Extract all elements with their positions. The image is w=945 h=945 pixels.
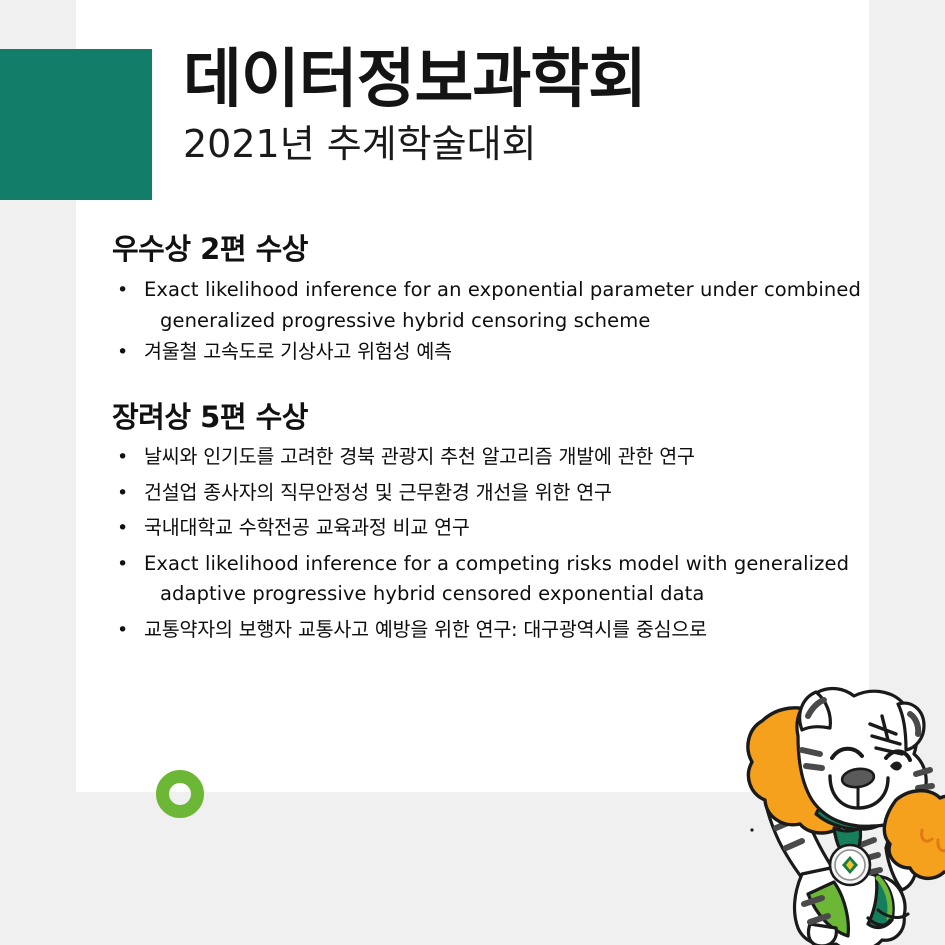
list-item: • 겨울철 고속도로 기상사고 위험성 예측 <box>112 342 872 362</box>
list-item-line1: Exact likelihood inference for an expone… <box>144 280 872 300</box>
award-list: • Exact likelihood inference for an expo… <box>112 280 872 362</box>
slide-header: 데이터정보과학회 2021년 추계학술대회 <box>183 48 843 166</box>
section-heading: 장려상 5편 수상 <box>112 401 872 434</box>
bullet-marker-icon: • <box>117 555 128 574</box>
list-item-line2: generalized progressive hybrid censoring… <box>144 311 872 331</box>
list-item-line1: 건설업 종사자의 직무안정성 및 근무환경 개선을 위한 연구 <box>144 483 872 503</box>
bullet-marker-icon: • <box>117 448 128 467</box>
list-item-line1: 교통약자의 보행자 교통사고 예방을 위한 연구: 대구광역시를 중심으로 <box>144 620 872 640</box>
list-item: • 교통약자의 보행자 교통사고 예방을 위한 연구: 대구광역시를 중심으로 <box>112 620 872 640</box>
award-sections: 우수상 2편 수상 • Exact likelihood inference f… <box>112 233 872 655</box>
list-item: • Exact likelihood inference for a compe… <box>112 554 872 604</box>
page-subtitle: 2021년 추계학술대회 <box>183 124 843 166</box>
bullet-marker-icon: • <box>117 343 128 362</box>
award-section-excellence: 우수상 2편 수상 • Exact likelihood inference f… <box>112 233 872 362</box>
list-item-line1: 국내대학교 수학전공 교육과정 비교 연구 <box>144 518 872 538</box>
section-heading: 우수상 2편 수상 <box>112 233 872 266</box>
bullet-marker-icon: • <box>117 621 128 640</box>
list-item-line1: Exact likelihood inference for a competi… <box>144 554 872 574</box>
list-item-line1: 겨울철 고속도로 기상사고 위험성 예측 <box>144 342 872 362</box>
list-item: • 국내대학교 수학전공 교육과정 비교 연구 <box>112 518 872 538</box>
bullet-marker-icon: • <box>117 519 128 538</box>
slide-canvas: 데이터정보과학회 2021년 추계학술대회 우수상 2편 수상 • Exact … <box>0 0 945 945</box>
list-item: • 건설업 종사자의 직무안정성 및 근무환경 개선을 위한 연구 <box>112 483 872 503</box>
bullet-marker-icon: • <box>117 484 128 503</box>
list-item-line2: adaptive progressive hybrid censored exp… <box>144 584 872 604</box>
list-item: • Exact likelihood inference for an expo… <box>112 280 872 330</box>
green-ring-decoration <box>156 770 204 818</box>
list-item-line1: 날씨와 인기도를 고려한 경북 관광지 추천 알고리즘 개발에 관한 연구 <box>144 447 872 467</box>
list-item: • 날씨와 인기도를 고려한 경북 관광지 추천 알고리즘 개발에 관한 연구 <box>112 447 872 467</box>
page-title: 데이터정보과학회 <box>183 48 843 113</box>
bullet-marker-icon: • <box>117 281 128 300</box>
award-section-encouragement: 장려상 5편 수상 • 날씨와 인기도를 고려한 경북 관광지 추천 알고리즘 … <box>112 401 872 639</box>
award-list: • 날씨와 인기도를 고려한 경북 관광지 추천 알고리즘 개발에 관한 연구 … <box>112 447 872 639</box>
teal-block-decoration <box>0 49 152 200</box>
